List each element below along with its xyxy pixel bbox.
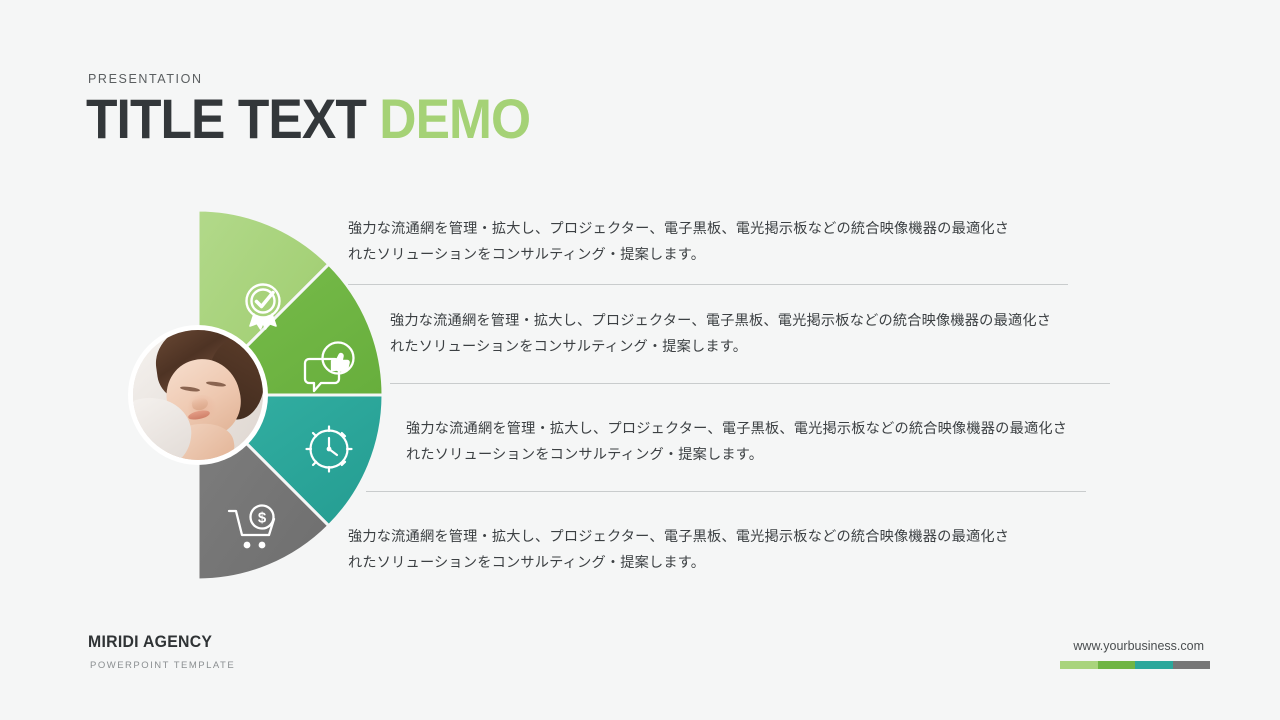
- footer-brand: MIRIDI AGENCY: [88, 632, 212, 652]
- sleeping-woman-photo: [133, 330, 263, 460]
- divider-3: [366, 491, 1086, 492]
- page-title: TITLE TEXT DEMO: [86, 90, 530, 149]
- content-block-4: 強力な流通網を管理・拡大し、プロジェクター、電子黒板、電光掲示板などの統合映像機…: [348, 524, 1010, 577]
- avatar: [128, 325, 268, 465]
- content-block-2-text: 強力な流通網を管理・拡大し、プロジェクター、電子黒板、電光掲示板などの統合映像機…: [390, 308, 1052, 361]
- footer-website[interactable]: www.yourbusiness.com: [1073, 639, 1204, 653]
- content-block-3: 強力な流通網を管理・拡大し、プロジェクター、電子黒板、電光掲示板などの統合映像機…: [406, 416, 1068, 469]
- content-block-3-text: 強力な流通網を管理・拡大し、プロジェクター、電子黒板、電光掲示板などの統合映像機…: [406, 416, 1068, 469]
- swatch-4: [1173, 661, 1211, 669]
- divider-2: [390, 383, 1110, 384]
- swatch-1: [1060, 661, 1098, 669]
- svg-text:$: $: [258, 510, 267, 527]
- content-block-2: 強力な流通網を管理・拡大し、プロジェクター、電子黒板、電光掲示板などの統合映像機…: [390, 308, 1052, 361]
- swatch-2: [1098, 661, 1136, 669]
- content-block-1: 強力な流通網を管理・拡大し、プロジェクター、電子黒板、電光掲示板などの統合映像機…: [348, 216, 1010, 269]
- divider-1: [348, 284, 1068, 285]
- content-block-1-text: 強力な流通網を管理・拡大し、プロジェクター、電子黒板、電光掲示板などの統合映像機…: [348, 216, 1010, 269]
- swatch-3: [1135, 661, 1173, 669]
- title-main-text: TITLE TEXT: [86, 87, 366, 150]
- footer-brand-subtitle: POWERPOINT TEMPLATE: [90, 660, 235, 671]
- title-accent-text: DEMO: [379, 87, 530, 150]
- slide-canvas: PRESENTATION TITLE TEXT DEMO: [0, 0, 1280, 720]
- footer-color-swatches: [1060, 661, 1210, 669]
- presentation-kicker: PRESENTATION: [88, 72, 203, 86]
- content-block-4-text: 強力な流通網を管理・拡大し、プロジェクター、電子黒板、電光掲示板などの統合映像機…: [348, 524, 1010, 577]
